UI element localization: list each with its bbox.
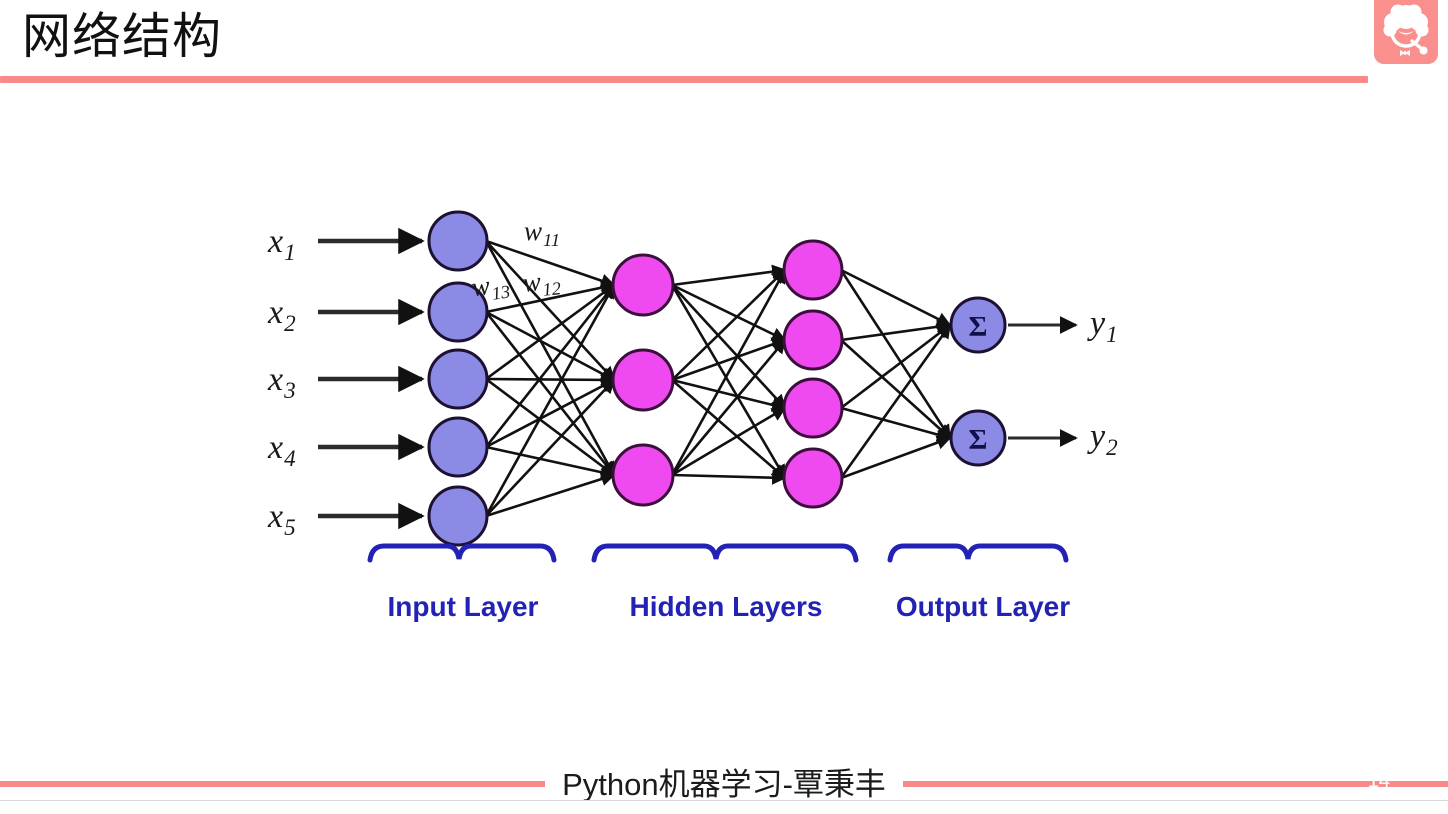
neural-network-diagram: Σ Σ x1 x2 x3 x4 x5 w11 <box>0 100 1448 700</box>
input-label-x2: x2 <box>268 296 296 336</box>
slide-footer: Python机器学习-覃秉丰 14 <box>0 756 1448 800</box>
input-label-x5: x5 <box>268 500 296 540</box>
weight-label-w12: w12 <box>521 266 561 302</box>
weight-label-w11: w11 <box>524 218 560 250</box>
brace-output <box>890 546 1066 560</box>
node-hidden2-3 <box>784 379 842 437</box>
weight-label-w13: w13 <box>470 270 511 307</box>
header-divider <box>0 76 1368 83</box>
sigma-symbol-2: Σ <box>969 424 988 456</box>
page-number: 14 <box>1368 769 1390 793</box>
einstein-q-logo[interactable] <box>1374 0 1438 64</box>
node-hidden1-2 <box>613 350 673 410</box>
sigma-symbol-1: Σ <box>969 311 988 343</box>
caption-hidden-layers: Hidden Layers <box>592 593 860 621</box>
footer-rule-right <box>903 781 1448 787</box>
node-hidden2-2 <box>784 311 842 369</box>
brace-input <box>370 546 554 560</box>
footer-rule-left <box>0 781 545 787</box>
input-label-x1: x1 <box>268 225 296 265</box>
caption-input-layer: Input Layer <box>368 593 558 621</box>
node-input-1 <box>429 212 487 270</box>
node-input-4 <box>429 418 487 476</box>
window-bottom-strip <box>0 800 1448 814</box>
node-hidden2-1 <box>784 241 842 299</box>
node-input-5 <box>429 487 487 545</box>
page-title: 网络结构 <box>22 6 222 68</box>
output-label-y1: y1 <box>1090 307 1118 347</box>
footer-label: Python机器学习-覃秉丰 <box>562 759 886 804</box>
node-hidden1-3 <box>613 445 673 505</box>
node-input-3 <box>429 350 487 408</box>
input-label-x3: x3 <box>268 363 296 403</box>
brace-hidden <box>594 546 856 560</box>
output-label-y2: y2 <box>1090 420 1118 460</box>
node-hidden2-4 <box>784 449 842 507</box>
node-hidden1-1 <box>613 255 673 315</box>
slide-canvas: 网络结构 <box>0 0 1448 800</box>
caption-output-layer: Output Layer <box>888 593 1078 621</box>
input-label-x4: x4 <box>268 431 296 471</box>
